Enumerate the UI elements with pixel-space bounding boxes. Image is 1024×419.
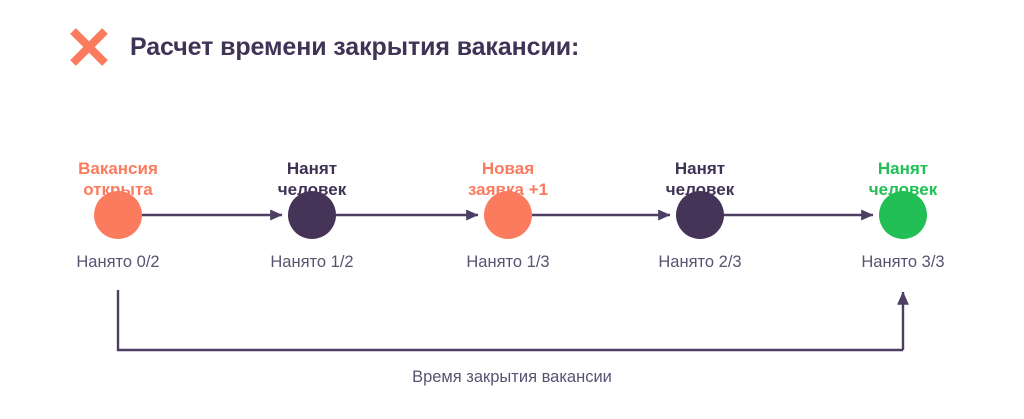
node-bottom-label: Нанято 0/2 — [18, 253, 218, 273]
duration-bracket-label: Время закрытия вакансии — [0, 368, 1024, 387]
node-bottom-label: Нанято 2/3 — [600, 253, 800, 273]
infographic-canvas: Расчет времени закрытия вакансии: — [0, 0, 1024, 419]
node-dot-icon — [879, 191, 927, 239]
node-bottom-label: Нанято 3/3 — [803, 253, 1003, 273]
duration-bracket — [118, 290, 903, 350]
timeline: Вакансия открыта Нанято 0/2 Нанят челове… — [0, 0, 1024, 419]
node-dot-icon — [288, 191, 336, 239]
node-dot-icon — [484, 191, 532, 239]
node-bottom-label: Нанято 1/3 — [408, 253, 608, 273]
node-bottom-label: Нанято 1/2 — [212, 253, 412, 273]
node-dot-icon — [94, 191, 142, 239]
node-dot-icon — [676, 191, 724, 239]
